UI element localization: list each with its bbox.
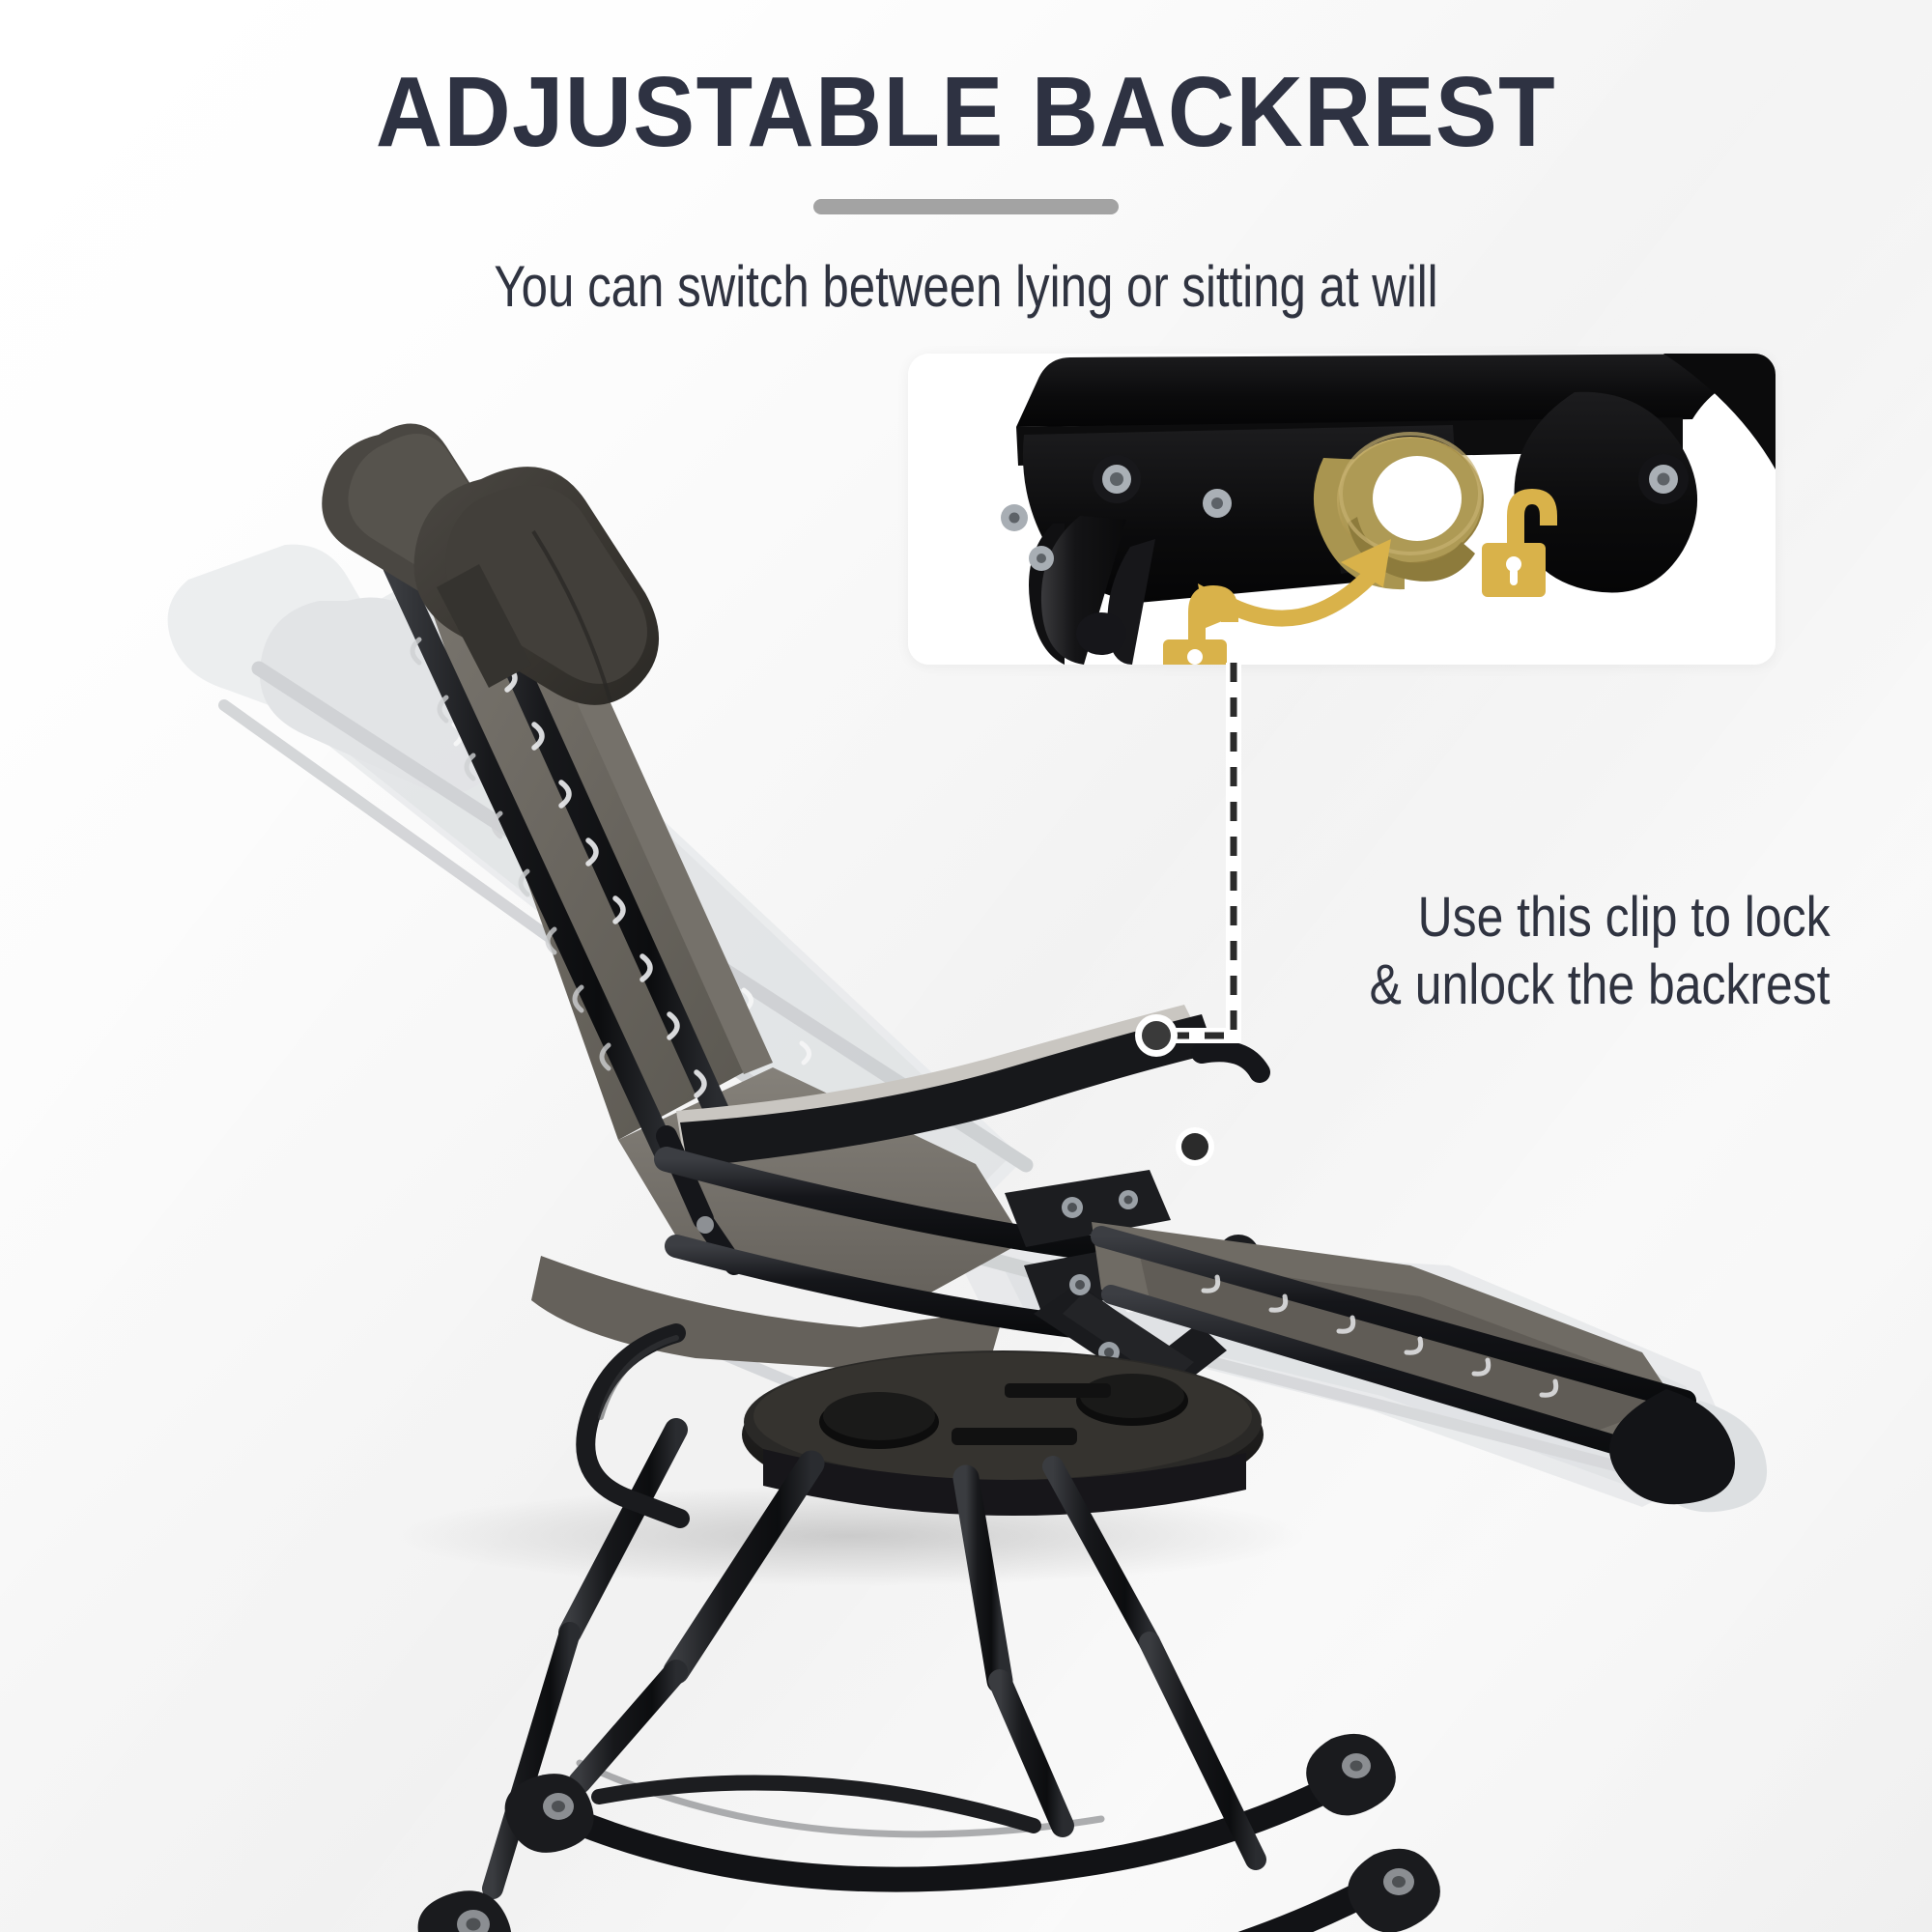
- clip-marker-dot: [1142, 1021, 1171, 1050]
- callout-text: Use this clip to lock & unlock the backr…: [1370, 884, 1831, 1018]
- page-title: ADJUSTABLE BACKREST: [68, 0, 1864, 164]
- page-subtitle: You can switch between lying or sitting …: [174, 253, 1758, 320]
- clip-close-up-panel: [908, 354, 1776, 665]
- header-block: ADJUSTABLE BACKREST You can switch betwe…: [0, 0, 1932, 320]
- cup-holder-tray: [742, 1350, 1264, 1516]
- rocker-base: [418, 1633, 1440, 1932]
- callout-line-1: Use this clip to lock: [1370, 884, 1831, 952]
- title-divider: [813, 199, 1119, 214]
- callout-leader-line: [1111, 663, 1304, 1068]
- marketing-image-canvas: ADJUSTABLE BACKREST You can switch betwe…: [0, 0, 1932, 1932]
- callout-line-2: & unlock the backrest: [1370, 952, 1831, 1019]
